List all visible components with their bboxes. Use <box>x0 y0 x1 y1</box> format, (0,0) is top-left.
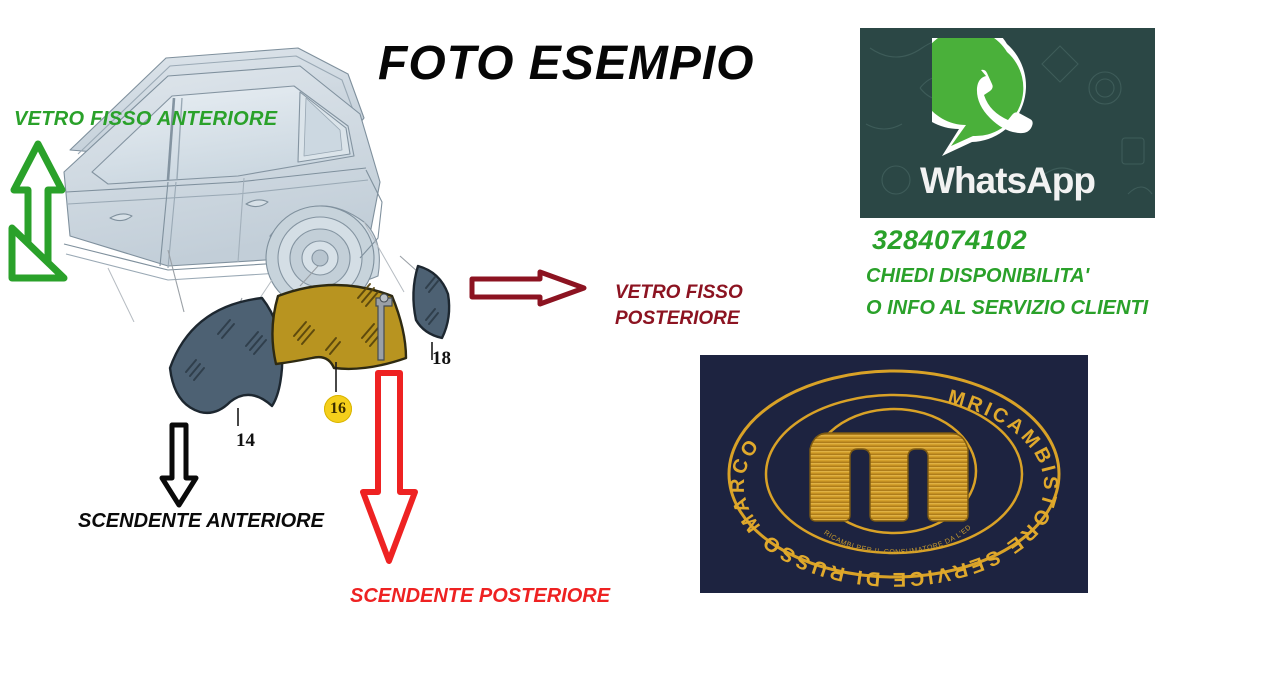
company-logo: MRICAMBISTORE SERVICE DI RUSSO MARCO RIC… <box>700 355 1088 593</box>
company-logo-graphic: MRICAMBISTORE SERVICE DI RUSSO MARCO RIC… <box>700 355 1088 593</box>
part-number-16-badge: 16 <box>324 395 352 423</box>
poster-canvas: 14 16 17 18 FOTO ESEMPIO VETRO FISSO ANT… <box>0 0 1264 678</box>
contact-line-1: CHIEDI DISPONIBILITA' <box>866 265 1089 288</box>
label-scendente-posteriore: SCENDENTE POSTERIORE <box>350 585 610 607</box>
part-number-14: 14 <box>236 430 255 452</box>
contact-line-2: O INFO AL SERVIZIO CLIENTI <box>866 297 1148 320</box>
part-number-18: 18 <box>432 348 451 370</box>
whatsapp-wordmark: WhatsApp <box>860 160 1155 202</box>
part-18-shape <box>413 266 449 338</box>
part-14-shape <box>170 298 282 413</box>
label-vetro-fisso-anteriore: VETRO FISSO ANTERIORE <box>14 108 277 130</box>
whatsapp-banner[interactable]: WhatsApp <box>860 28 1155 218</box>
page-title: FOTO ESEMPIO <box>378 36 798 91</box>
phone-number[interactable]: 3284074102 <box>872 225 1027 256</box>
part-number-17: 17 <box>379 395 398 417</box>
whatsapp-icon <box>932 38 1082 163</box>
label-scendente-anteriore: SCENDENTE ANTERIORE <box>78 510 324 532</box>
label-vetro-fisso-posteriore: VETRO FISSO POSTERIORE <box>615 280 743 331</box>
